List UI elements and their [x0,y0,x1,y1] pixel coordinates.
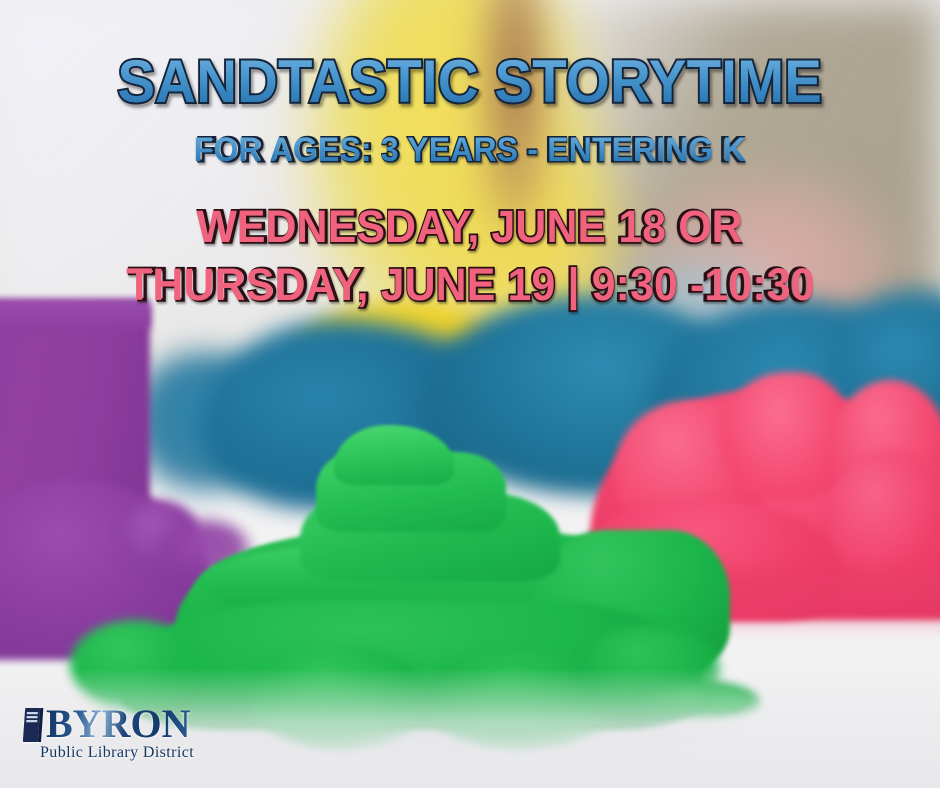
library-logo-row: BYRON [22,706,190,743]
poster-title-wrap: SANDTASTIC STORYTIME [0,52,940,112]
poster-date-line-2: THURSDAY, JUNE 19 | 9:30 -10:30 [126,262,815,307]
poster-text-layer: SANDTASTIC STORYTIME SANDTASTIC STORYTIM… [0,0,940,788]
poster-subtitle: FOR AGES: 3 YEARS - ENTERING K [194,133,747,167]
library-logo-name: BYRON [46,706,190,743]
poster-title: SANDTASTIC STORYTIME [118,52,823,112]
poster-date-row-1: WEDNESDAY, JUNE 18 OR WEDNESDAY, JUNE 18… [0,204,940,262]
poster-subtitle-wrap: FOR AGES: 3 YEARS - ENTERING K [0,133,940,167]
poster-date-line-2-fill: THURSDAY, JUNE 19 | 9:30 -10:30 [0,262,940,307]
library-logo-tagline: Public Library District [40,744,194,762]
poster-dates-wrap: WEDNESDAY, JUNE 18 OR WEDNESDAY, JUNE 18… [0,204,940,320]
book-icon [21,707,46,743]
poster-date-row-2: THURSDAY, JUNE 19 | 9:30 -10:30 THURSDAY… [0,262,940,320]
poster-date-line-1-fill: WEDNESDAY, JUNE 18 OR [0,204,940,249]
poster-date-line-1: WEDNESDAY, JUNE 18 OR [197,204,743,249]
library-logo: BYRON Public Library District [22,706,194,762]
poster-image: SANDTASTIC STORYTIME SANDTASTIC STORYTIM… [0,0,940,788]
